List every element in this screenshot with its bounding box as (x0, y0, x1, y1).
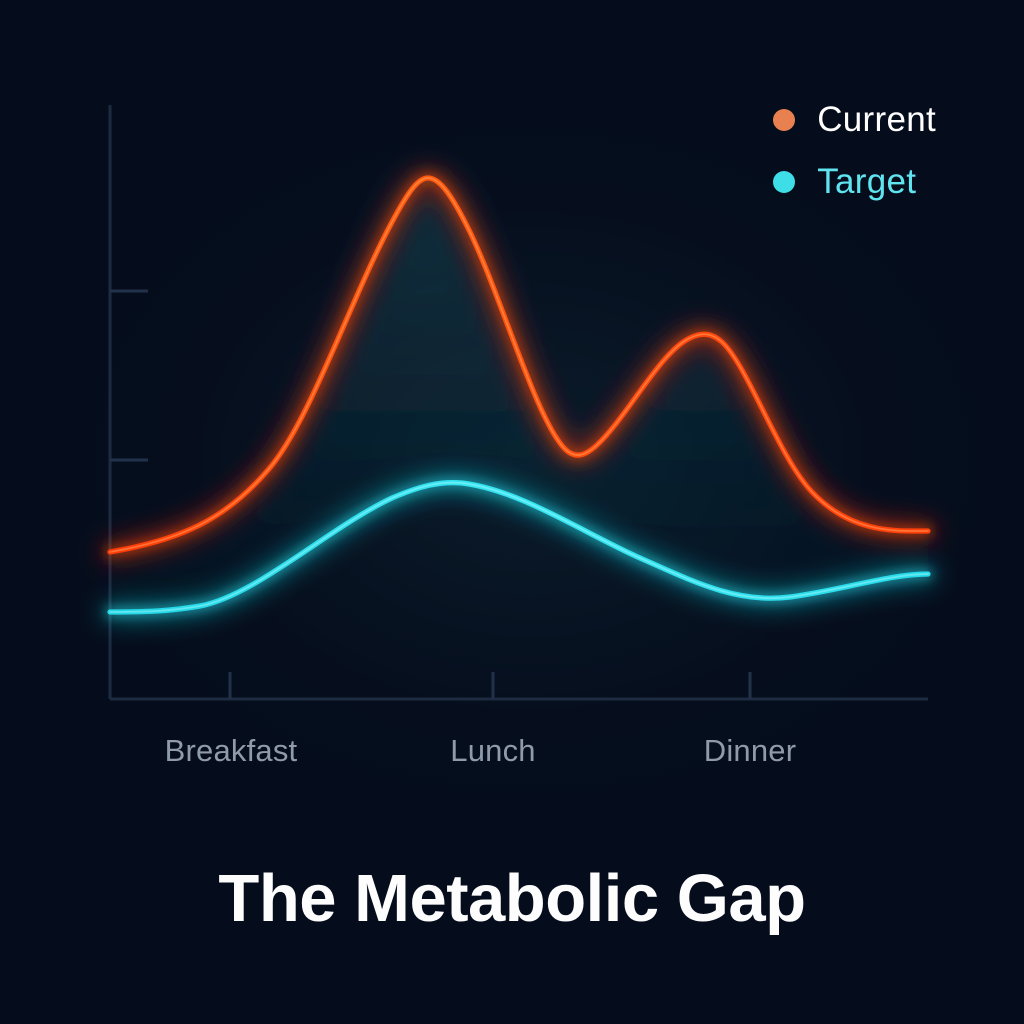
legend-item-current[interactable]: Current (773, 100, 936, 140)
x-axis-label-breakfast: Breakfast (165, 733, 298, 769)
legend-item-target[interactable]: Target (773, 162, 916, 202)
x-axis-label-lunch: Lunch (450, 733, 535, 769)
gap-area-fill (110, 178, 928, 612)
chart-canvas: Breakfast Lunch Dinner Current Target Th… (0, 0, 1024, 1024)
chart-title: The Metabolic Gap (0, 860, 1024, 937)
legend-label-current: Current (817, 100, 936, 140)
legend-dot-icon-current (773, 109, 795, 131)
x-axis-label-dinner: Dinner (704, 733, 797, 769)
chart-legend: Current Target (773, 100, 936, 202)
legend-label-target: Target (817, 162, 916, 202)
legend-dot-icon-target (773, 171, 795, 193)
